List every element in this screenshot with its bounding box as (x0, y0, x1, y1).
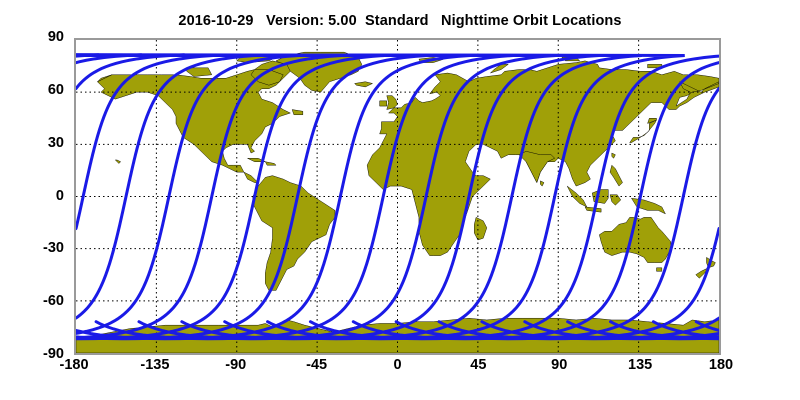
orbit-track (76, 55, 98, 56)
x-axis-tick-label: -135 (125, 357, 185, 373)
plot-area: 9060300-30-60-90 -180-135-90-45045901351… (74, 38, 721, 355)
landmass (519, 151, 555, 182)
landmass (253, 176, 335, 291)
y-axis-tick-label: 0 (12, 188, 64, 204)
landmass (474, 217, 487, 240)
x-axis-tick-label: -90 (206, 357, 266, 373)
landmass (355, 82, 373, 87)
y-axis-tick-label: 90 (12, 29, 64, 45)
plot-frame (74, 38, 721, 355)
x-axis-tick-label: 180 (691, 357, 751, 373)
page-title: 2016-10-29 Version: 5.00 Standard Nightt… (0, 13, 800, 29)
y-axis-tick-label: -60 (12, 293, 64, 309)
landmass (610, 165, 623, 186)
landmass (292, 110, 303, 115)
landmass (187, 68, 212, 77)
landmass (540, 181, 544, 186)
landmass (265, 162, 276, 165)
x-axis-tick-label: 135 (610, 357, 670, 373)
x-axis-tick-label: 0 (368, 357, 428, 373)
y-axis-tick-label: 60 (12, 82, 64, 98)
landmass (387, 96, 398, 110)
world-map (76, 40, 719, 353)
landmass (567, 186, 587, 207)
orbit-map-figure: 2016-10-29 Version: 5.00 Standard Nightt… (0, 0, 800, 400)
x-axis-tick-label: 45 (448, 357, 508, 373)
landmass (612, 153, 616, 158)
landmass (380, 101, 387, 106)
x-axis-tick-label: -180 (44, 357, 104, 373)
y-axis-tick-label: 30 (12, 135, 64, 151)
x-axis-tick-label: -45 (287, 357, 347, 373)
landmass (115, 160, 120, 163)
x-axis-tick-label: 90 (529, 357, 589, 373)
y-axis-tick-label: -30 (12, 240, 64, 256)
landmass (656, 268, 661, 271)
